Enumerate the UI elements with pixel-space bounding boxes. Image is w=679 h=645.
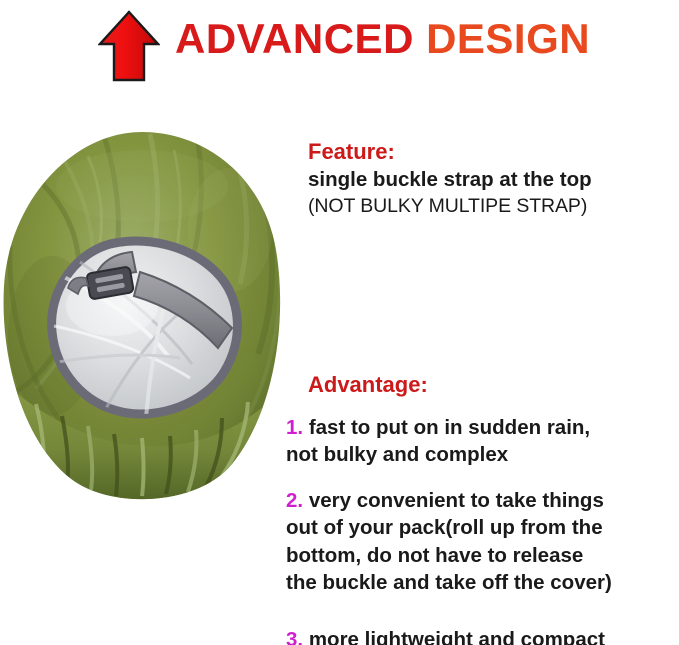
item-line: bottom, do not have to release bbox=[286, 542, 612, 569]
item-line: out of your pack(roll up from the bbox=[286, 514, 612, 541]
title-word-advanced: ADVANCED bbox=[175, 15, 414, 62]
feature-heading: Feature: bbox=[308, 138, 679, 166]
up-arrow-icon bbox=[98, 10, 160, 82]
feature-block: Feature: single buckle strap at the top … bbox=[308, 138, 679, 219]
item-number: 3. bbox=[286, 628, 303, 645]
feature-line-1: single buckle strap at the top bbox=[308, 166, 679, 193]
list-item: 1. fast to put on in sudden rain, not bu… bbox=[286, 414, 590, 469]
list-item: 2. very convenient to take things out of… bbox=[286, 487, 612, 596]
item-number: 2. bbox=[286, 489, 303, 512]
item-line: very convenient to take things bbox=[309, 489, 604, 512]
title-word-design: DESIGN bbox=[426, 15, 590, 62]
item-line: more lightweight and compact bbox=[309, 628, 605, 645]
header-banner: ADVANCED DESIGN bbox=[0, 0, 679, 100]
item-line: the buckle and take off the cover) bbox=[286, 569, 612, 596]
item-line: fast to put on in sudden rain, bbox=[309, 416, 590, 439]
text-column: Feature: single buckle strap at the top … bbox=[282, 126, 679, 645]
advantage-heading: Advantage: bbox=[308, 371, 679, 399]
feature-line-2: (NOT BULKY MULTIPE STRAP) bbox=[308, 193, 679, 219]
page-title: ADVANCED DESIGN bbox=[175, 18, 590, 60]
product-image-rain-cover bbox=[0, 126, 292, 508]
item-line: not bulky and complex bbox=[286, 441, 590, 468]
item-number: 1. bbox=[286, 416, 303, 439]
advantage-block: Advantage: bbox=[308, 371, 679, 399]
list-item: 3. more lightweight and compact bbox=[286, 626, 605, 645]
infographic-page: ADVANCED DESIGN bbox=[0, 0, 679, 645]
